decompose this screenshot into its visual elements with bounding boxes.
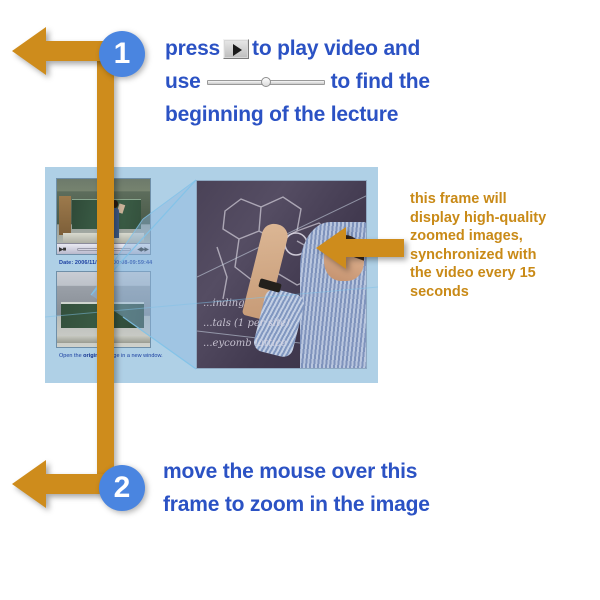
play-icon[interactable] bbox=[223, 39, 249, 59]
handwriting-line-2: ...tals (1 per site) bbox=[203, 314, 290, 334]
instr2-pre: use bbox=[165, 70, 201, 93]
handwriting-line-1: ...inding bbox=[203, 294, 290, 314]
application-panel: ▶■ ◀▶▶ Date: 2006/11/20 09:00:08-09:59:4… bbox=[45, 167, 378, 383]
instr1-pre: press bbox=[165, 37, 220, 60]
instruction-line-2: useto find the bbox=[165, 65, 430, 98]
door-shape bbox=[59, 196, 71, 235]
annotation-text: this frame will display high-quality zoo… bbox=[410, 190, 546, 301]
slider-icon[interactable] bbox=[207, 75, 325, 90]
step-number-2: 2 bbox=[99, 465, 145, 511]
slider-knob[interactable] bbox=[261, 77, 271, 87]
instr1-post: to play video and bbox=[252, 37, 420, 60]
zoomed-blackboard-frame[interactable]: ...inding ...tals (1 per site) ...eycomb… bbox=[196, 180, 367, 369]
link-prefix: Open the bbox=[59, 353, 83, 359]
playback-buttons-right[interactable]: ◀▶▶ bbox=[137, 246, 148, 253]
instruction-step-1: pressto play video and useto find the be… bbox=[165, 32, 430, 131]
annotation-line-1: this frame will bbox=[410, 190, 546, 209]
instruction-line-1: pressto play video and bbox=[165, 32, 430, 65]
arrow-step-1 bbox=[12, 23, 112, 79]
annotation-line-3: zoomed images, bbox=[410, 227, 546, 246]
annotation-line-6: seconds bbox=[410, 283, 546, 302]
tutorial-screenshot: ▶■ ◀▶▶ Date: 2006/11/20 09:00:08-09:59:4… bbox=[0, 0, 600, 600]
annotation-line-2: display high-quality bbox=[410, 209, 546, 228]
step-number-1: 1 bbox=[99, 31, 145, 77]
instr2-post: to find the bbox=[331, 70, 430, 93]
blackboard-handwriting: ...inding ...tals (1 per site) ...eycomb… bbox=[203, 294, 290, 354]
step-1-label: 1 bbox=[114, 39, 131, 69]
annotation-line-4: synchronized with bbox=[410, 246, 546, 265]
playback-buttons-left[interactable]: ▶■ bbox=[59, 246, 65, 253]
arrow-annotation bbox=[316, 222, 404, 274]
arrow-step-2 bbox=[12, 456, 112, 512]
annotation-line-5: the video every 15 bbox=[410, 264, 546, 283]
handwriting-line-3: ...eycomb lattice bbox=[203, 334, 290, 354]
connector-bar-vertical bbox=[97, 50, 114, 482]
instruction-line-3: beginning of the lecture bbox=[165, 98, 430, 131]
step-2-label: 2 bbox=[114, 473, 131, 503]
instruction-2-line-2: frame to zoom in the image bbox=[163, 488, 430, 521]
instruction-step-2: move the mouse over this frame to zoom i… bbox=[163, 455, 430, 521]
instruction-2-line-1: move the mouse over this bbox=[163, 455, 430, 488]
